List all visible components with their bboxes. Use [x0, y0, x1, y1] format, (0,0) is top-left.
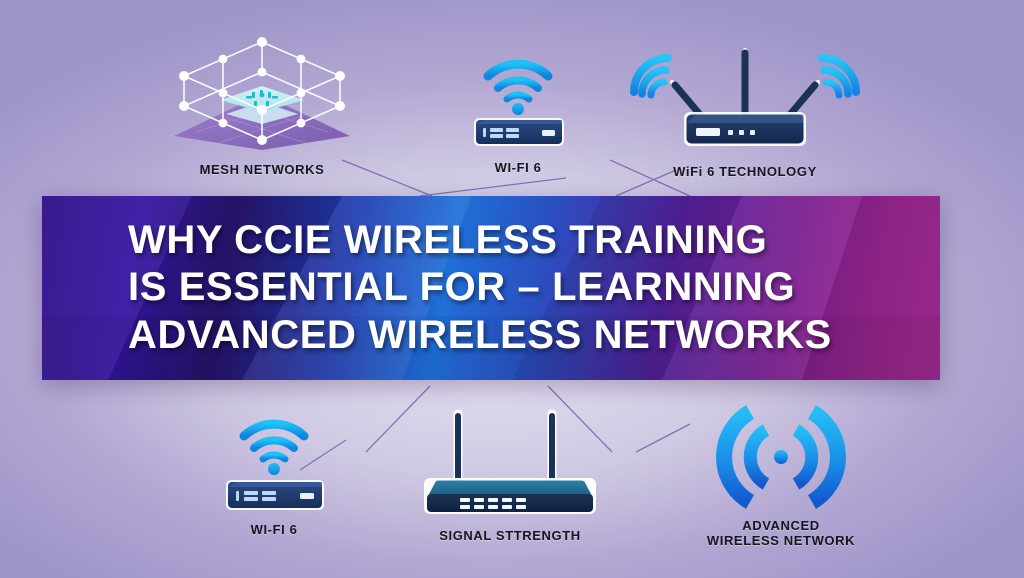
title-banner: WHY CCIE WIRELESS TRAINING IS ESSENTIAL …	[42, 196, 940, 380]
wifi-arcs	[244, 424, 304, 475]
node-label: ADVANCED WIRELESS NETWORK	[707, 519, 855, 548]
three-antenna-router-icon	[618, 44, 872, 161]
node-advanced-wireless-network[interactable]: ADVANCED WIRELESS NETWORK	[692, 404, 870, 548]
node-label: WI-FI 6	[251, 523, 298, 538]
router-box	[226, 480, 324, 510]
antennas	[458, 414, 552, 482]
router-body	[684, 112, 806, 146]
wifi-arcs-left	[634, 58, 668, 95]
node-label: SIGNAL STTRENGTH	[439, 529, 581, 544]
two-antenna-router-icon	[416, 400, 604, 525]
node-label: WI-FI 6	[495, 161, 542, 176]
isometric-mesh-network-icon	[164, 24, 360, 159]
infographic-canvas: MESH NETWORKS	[0, 0, 1024, 578]
title-line-1: WHY CCIE WIRELESS TRAINING	[128, 217, 940, 264]
wifi-arcs	[488, 64, 548, 115]
wifi-signal-router-icon	[204, 414, 344, 519]
node-signal-strength[interactable]: SIGNAL STTRENGTH	[416, 400, 604, 544]
router-box	[474, 118, 564, 146]
node-wifi6-top[interactable]: WI-FI 6	[452, 52, 584, 176]
node-label: WiFi 6 TECHNOLOGY	[673, 165, 817, 180]
wifi-arcs-right	[822, 58, 856, 95]
title-line-3: ADVANCED WIRELESS NETWORKS	[128, 312, 940, 359]
node-wifi6-bottom[interactable]: WI-FI 6	[204, 414, 344, 538]
node-mesh-networks[interactable]: MESH NETWORKS	[164, 24, 360, 178]
wifi-signal-router-icon	[452, 52, 584, 157]
node-label: MESH NETWORKS	[200, 163, 325, 178]
title-line-2: IS ESSENTIAL FOR – LEARNNING	[128, 264, 940, 311]
banner-title: WHY CCIE WIRELESS TRAINING IS ESSENTIAL …	[42, 196, 940, 380]
broadcast-waves-icon	[692, 404, 870, 515]
node-wifi6-technology[interactable]: WiFi 6 TECHNOLOGY	[618, 44, 872, 180]
router-body	[424, 478, 596, 514]
